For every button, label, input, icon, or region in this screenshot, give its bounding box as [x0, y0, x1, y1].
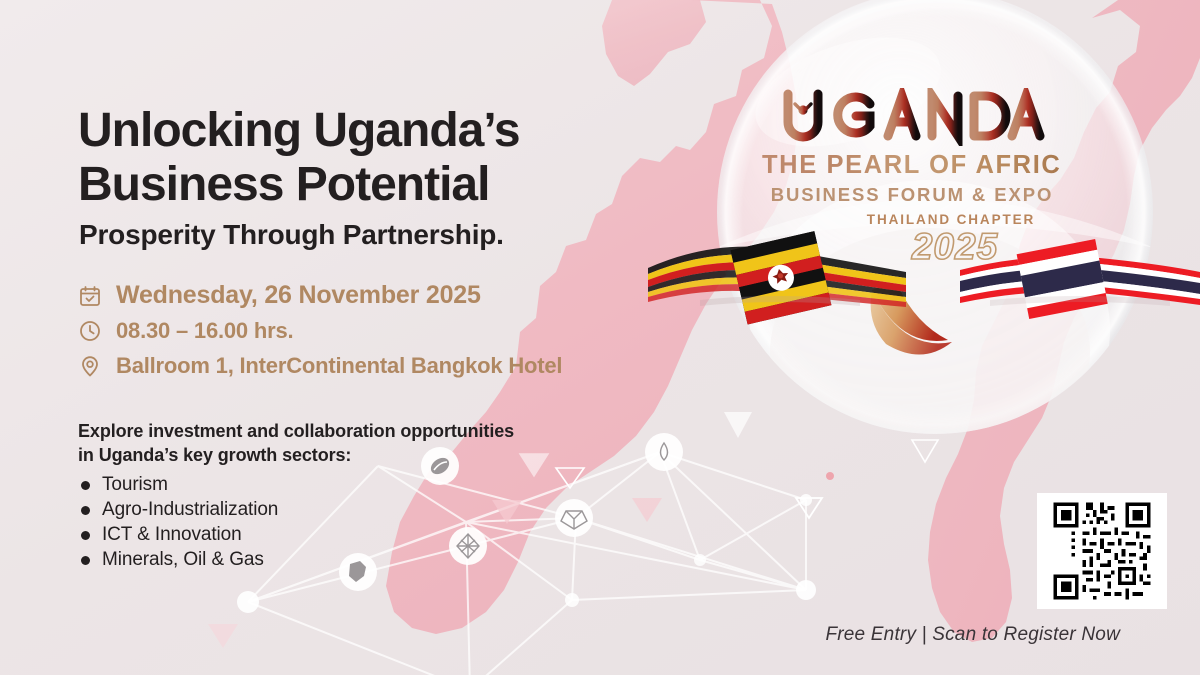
logo-event-type: BUSINESS FORUM & EXPO	[762, 184, 1062, 206]
headline-line-2: Business Potential	[78, 158, 520, 212]
bullet-icon	[81, 556, 90, 565]
page-title: Unlocking Uganda’s Business Potential	[78, 104, 520, 212]
location-pin-icon	[78, 354, 102, 378]
event-logo-lockup: THE PEARL OF AFRICA BUSINESS FORUM & EXP…	[762, 88, 1062, 268]
subheadline: Prosperity Through Partnership.	[79, 219, 504, 251]
logo-tagline: THE PEARL OF AFRICA	[762, 151, 1062, 180]
detail-row-venue: Ballroom 1, InterContinental Bangkok Hot…	[78, 348, 562, 383]
detail-row-time: 08.30 – 16.00 hrs.	[78, 313, 562, 348]
headline-line-1: Unlocking Uganda’s	[78, 104, 520, 157]
sector-label: Tourism	[102, 474, 168, 496]
sectors-lead-line-1: Explore investment and collaboration opp…	[78, 421, 514, 441]
sector-label: ICT & Innovation	[102, 524, 242, 546]
sector-list: Tourism Agro-Industrialization ICT & Inn…	[78, 473, 514, 573]
sector-label: Agro-Industrialization	[102, 499, 278, 521]
sector-label: Minerals, Oil & Gas	[102, 549, 264, 571]
uganda-wordmark-icon	[778, 88, 1046, 146]
sectors-lead: Explore investment and collaboration opp…	[78, 420, 514, 468]
bullet-icon	[81, 506, 90, 515]
bullet-icon	[81, 531, 90, 540]
qr-code[interactable]	[1050, 499, 1154, 603]
detail-text-venue: Ballroom 1, InterContinental Bangkok Hot…	[116, 353, 562, 379]
calendar-check-icon	[78, 284, 102, 308]
uganda-wordmark	[762, 88, 1062, 146]
list-item: Minerals, Oil & Gas	[78, 548, 514, 573]
sectors-lead-line-2: in Uganda’s key growth sectors:	[78, 445, 351, 465]
qr-code-card[interactable]	[1037, 493, 1167, 609]
detail-text-date: Wednesday, 26 November 2025	[116, 281, 481, 310]
list-item: ICT & Innovation	[78, 523, 514, 548]
list-item: Tourism	[78, 473, 514, 498]
list-item: Agro-Industrialization	[78, 498, 514, 523]
logo-year: 2025	[848, 226, 1062, 268]
sectors-block: Explore investment and collaboration opp…	[78, 420, 514, 573]
detail-row-date: Wednesday, 26 November 2025	[78, 278, 562, 313]
event-banner: Unlocking Uganda’s Business Potential Pr…	[0, 0, 1200, 675]
clock-icon	[78, 319, 102, 343]
logo-chapter: THAILAND CHAPTER	[840, 212, 1062, 227]
bullet-icon	[81, 481, 90, 490]
event-details: Wednesday, 26 November 2025 08.30 – 16.0…	[78, 278, 562, 383]
qr-caption: Free Entry | Scan to Register Now	[700, 624, 1160, 646]
detail-text-time: 08.30 – 16.00 hrs.	[116, 318, 293, 344]
